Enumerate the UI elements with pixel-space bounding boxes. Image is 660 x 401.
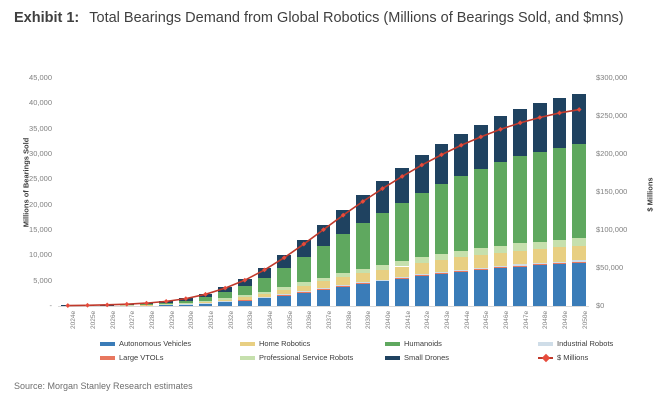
y-axis-right-tick: $300,000 <box>596 73 644 82</box>
x-axis-tick: 2042e <box>424 311 431 329</box>
line-marker <box>537 115 542 120</box>
line-marker <box>144 301 149 306</box>
y-axis-right-tick: $0 <box>596 301 644 310</box>
y-axis-left-tick: 35,000 <box>12 124 52 133</box>
x-axis-tick: 2030e <box>188 311 195 329</box>
legend-item[interactable]: Industrial Robots <box>538 338 613 349</box>
legend-color-swatch <box>240 342 255 346</box>
y-axis-right-tick: $50,000 <box>596 263 644 272</box>
x-axis-tick: 2025e <box>90 311 97 329</box>
x-axis-tick: 2044e <box>464 311 471 329</box>
legend-item[interactable]: Home Robotics <box>240 338 310 349</box>
legend-item[interactable]: Autonomous Vehicles <box>100 338 191 349</box>
y-axis-left-tick: 15,000 <box>12 225 52 234</box>
y-axis-right-title: $ Millions <box>646 125 655 265</box>
y-axis-left-tick: - <box>12 301 52 310</box>
x-axis-tick: 2040e <box>385 311 392 329</box>
legend-color-swatch <box>240 356 255 360</box>
x-axis-tick: 2041e <box>405 311 412 329</box>
x-axis-tick: 2050e <box>582 311 589 329</box>
x-axis-tick: 2028e <box>149 311 156 329</box>
legend-item[interactable]: Professional Service Robots <box>240 352 353 363</box>
y-axis-right-tick: $100,000 <box>596 225 644 234</box>
x-axis-tick: 2049e <box>562 311 569 329</box>
x-axis-ticks: 2024e2025e2026e2027e2028e2029e2030e2031e… <box>58 307 589 337</box>
legend-label: Professional Service Robots <box>259 353 353 362</box>
y-axis-left-tick: 30,000 <box>12 149 52 158</box>
y-axis-right-tick: $150,000 <box>596 187 644 196</box>
legend-color-swatch <box>385 356 400 360</box>
x-axis-tick: 2038e <box>346 311 353 329</box>
legend-label: Autonomous Vehicles <box>119 339 191 348</box>
line-marker <box>203 292 208 297</box>
line-marker <box>223 286 228 291</box>
legend-label: Home Robotics <box>259 339 310 348</box>
exhibit-label: Exhibit 1: <box>14 10 79 26</box>
x-axis-tick: 2043e <box>444 311 451 329</box>
y-axis-left-tick: 20,000 <box>12 200 52 209</box>
legend-item[interactable]: Large VTOLs <box>100 352 163 363</box>
line-marker <box>557 111 562 116</box>
x-axis-tick: 2026e <box>110 311 117 329</box>
legend-line-icon <box>538 354 553 361</box>
x-axis-tick: 2046e <box>503 311 510 329</box>
legend-label: Large VTOLs <box>119 353 163 362</box>
line-marker <box>498 127 503 132</box>
x-axis-tick: 2024e <box>70 311 77 329</box>
legend-color-swatch <box>538 342 553 346</box>
y-axis-left-tick: 5,000 <box>12 276 52 285</box>
line-marker <box>478 134 483 139</box>
y-axis-left-tick: 10,000 <box>12 250 52 259</box>
legend-color-swatch <box>100 342 115 346</box>
line-marker <box>577 107 582 112</box>
x-axis-tick: 2029e <box>169 311 176 329</box>
x-axis-tick: 2031e <box>208 311 215 329</box>
line-marker <box>183 296 188 301</box>
legend-color-swatch <box>385 342 400 346</box>
source-note: Source: Morgan Stanley Research estimate… <box>14 381 193 391</box>
chart-legend: Autonomous VehiclesLarge VTOLsHome Robot… <box>100 338 648 368</box>
x-axis-tick: 2036e <box>306 311 313 329</box>
x-axis-tick: 2045e <box>483 311 490 329</box>
y-axis-left-title: Millions of Bearings Sold <box>22 113 31 253</box>
chart-container: -5,00010,00015,00020,00025,00030,00035,0… <box>0 66 660 314</box>
y-axis-left-tick: 40,000 <box>12 98 52 107</box>
y-axis-left-tick: 25,000 <box>12 174 52 183</box>
dollar-millions-line-series <box>58 78 589 306</box>
x-axis-tick: 2035e <box>287 311 294 329</box>
line-marker <box>518 120 523 125</box>
x-axis-tick: 2037e <box>326 311 333 329</box>
legend-color-swatch <box>100 356 115 360</box>
exhibit-title-text: Total Bearings Demand from Global Roboti… <box>89 10 623 26</box>
line-marker <box>124 302 129 307</box>
x-axis-tick: 2048e <box>542 311 549 329</box>
x-axis-tick: 2032e <box>228 311 235 329</box>
legend-label: Small Drones <box>404 353 449 362</box>
page-title: Exhibit 1:Total Bearings Demand from Glo… <box>14 6 650 30</box>
x-axis-tick: 2039e <box>365 311 372 329</box>
x-axis-tick: 2033e <box>247 311 254 329</box>
x-axis-tick: 2027e <box>129 311 136 329</box>
legend-item[interactable]: Humanoids <box>385 338 442 349</box>
legend-item[interactable]: $ Millions <box>538 352 588 363</box>
legend-label: $ Millions <box>557 353 588 362</box>
x-axis-tick: 2047e <box>523 311 530 329</box>
line-marker <box>164 299 169 304</box>
line-path <box>68 110 579 306</box>
y-axis-right-tick: $200,000 <box>596 149 644 158</box>
legend-label: Humanoids <box>404 339 442 348</box>
legend-label: Industrial Robots <box>557 339 613 348</box>
y-axis-left-tick: 45,000 <box>12 73 52 82</box>
y-axis-right-tick: $250,000 <box>596 111 644 120</box>
legend-item[interactable]: Small Drones <box>385 352 449 363</box>
x-axis-tick: 2034e <box>267 311 274 329</box>
